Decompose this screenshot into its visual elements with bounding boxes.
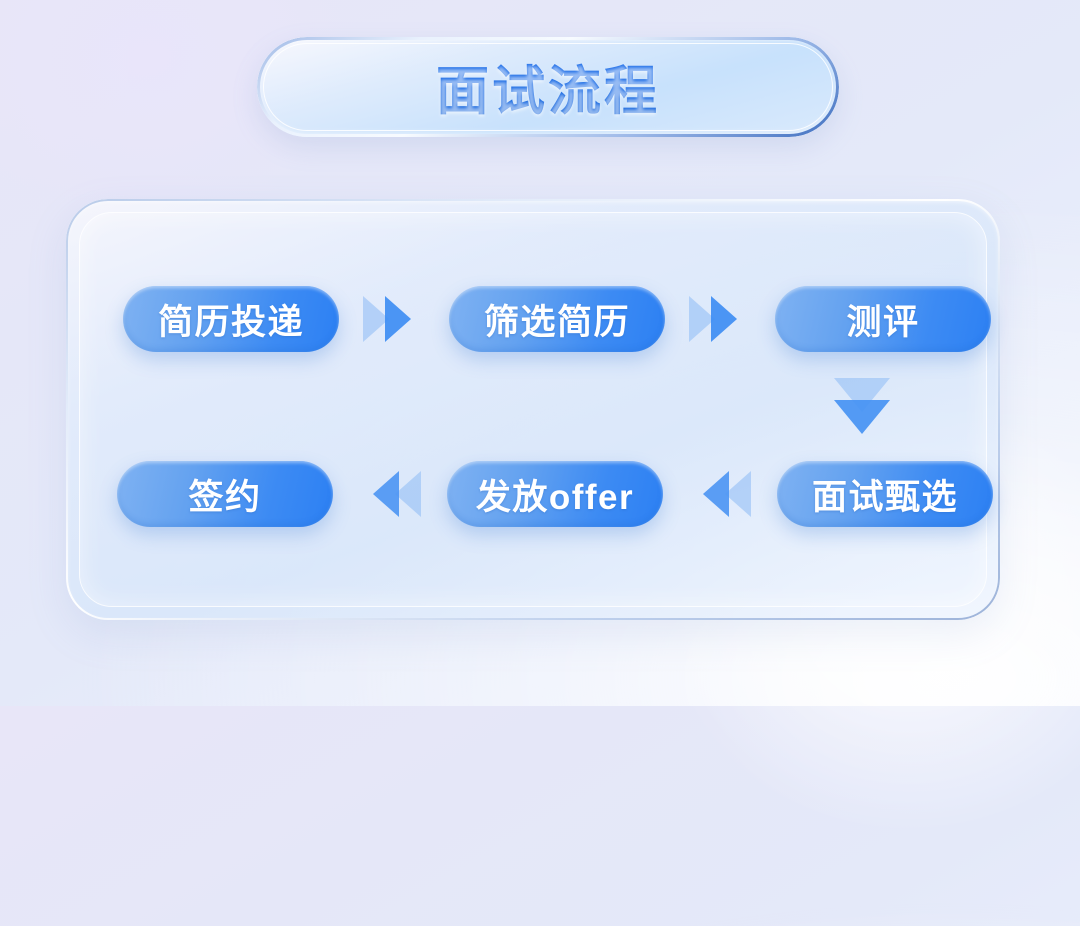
flow-step-label: 简历投递 [132, 294, 330, 345]
flow-row-bottom: 签约 发放offer 面试甄选 [117, 461, 969, 527]
flow-step-label: 发放offer [450, 469, 660, 520]
double-chevron-left-icon [359, 471, 421, 517]
flow-row-top: 简历投递 筛选简历 测评 [123, 286, 969, 352]
flow-step-label: 面试甄选 [786, 469, 984, 520]
flow-step-screen-resumes[interactable]: 筛选简历 [449, 286, 665, 352]
flow-step-issue-offer[interactable]: 发放offer [447, 461, 663, 527]
double-chevron-down-icon [829, 378, 895, 446]
page-title-banner: 面试流程 [257, 37, 839, 137]
flow-step-label: 签约 [162, 469, 287, 520]
flow-step-label: 测评 [820, 294, 945, 345]
flow-step-label: 筛选简历 [458, 294, 656, 345]
flow-step-interview-selection[interactable]: 面试甄选 [777, 461, 993, 527]
flow-step-resume-submission[interactable]: 简历投递 [123, 286, 339, 352]
double-chevron-right-icon [363, 296, 425, 342]
flow-step-sign-contract[interactable]: 签约 [117, 461, 333, 527]
double-chevron-right-icon [689, 296, 751, 342]
flow-step-assessment[interactable]: 测评 [775, 286, 991, 352]
page-title: 面试流程 [257, 37, 839, 137]
double-chevron-left-icon [689, 471, 751, 517]
